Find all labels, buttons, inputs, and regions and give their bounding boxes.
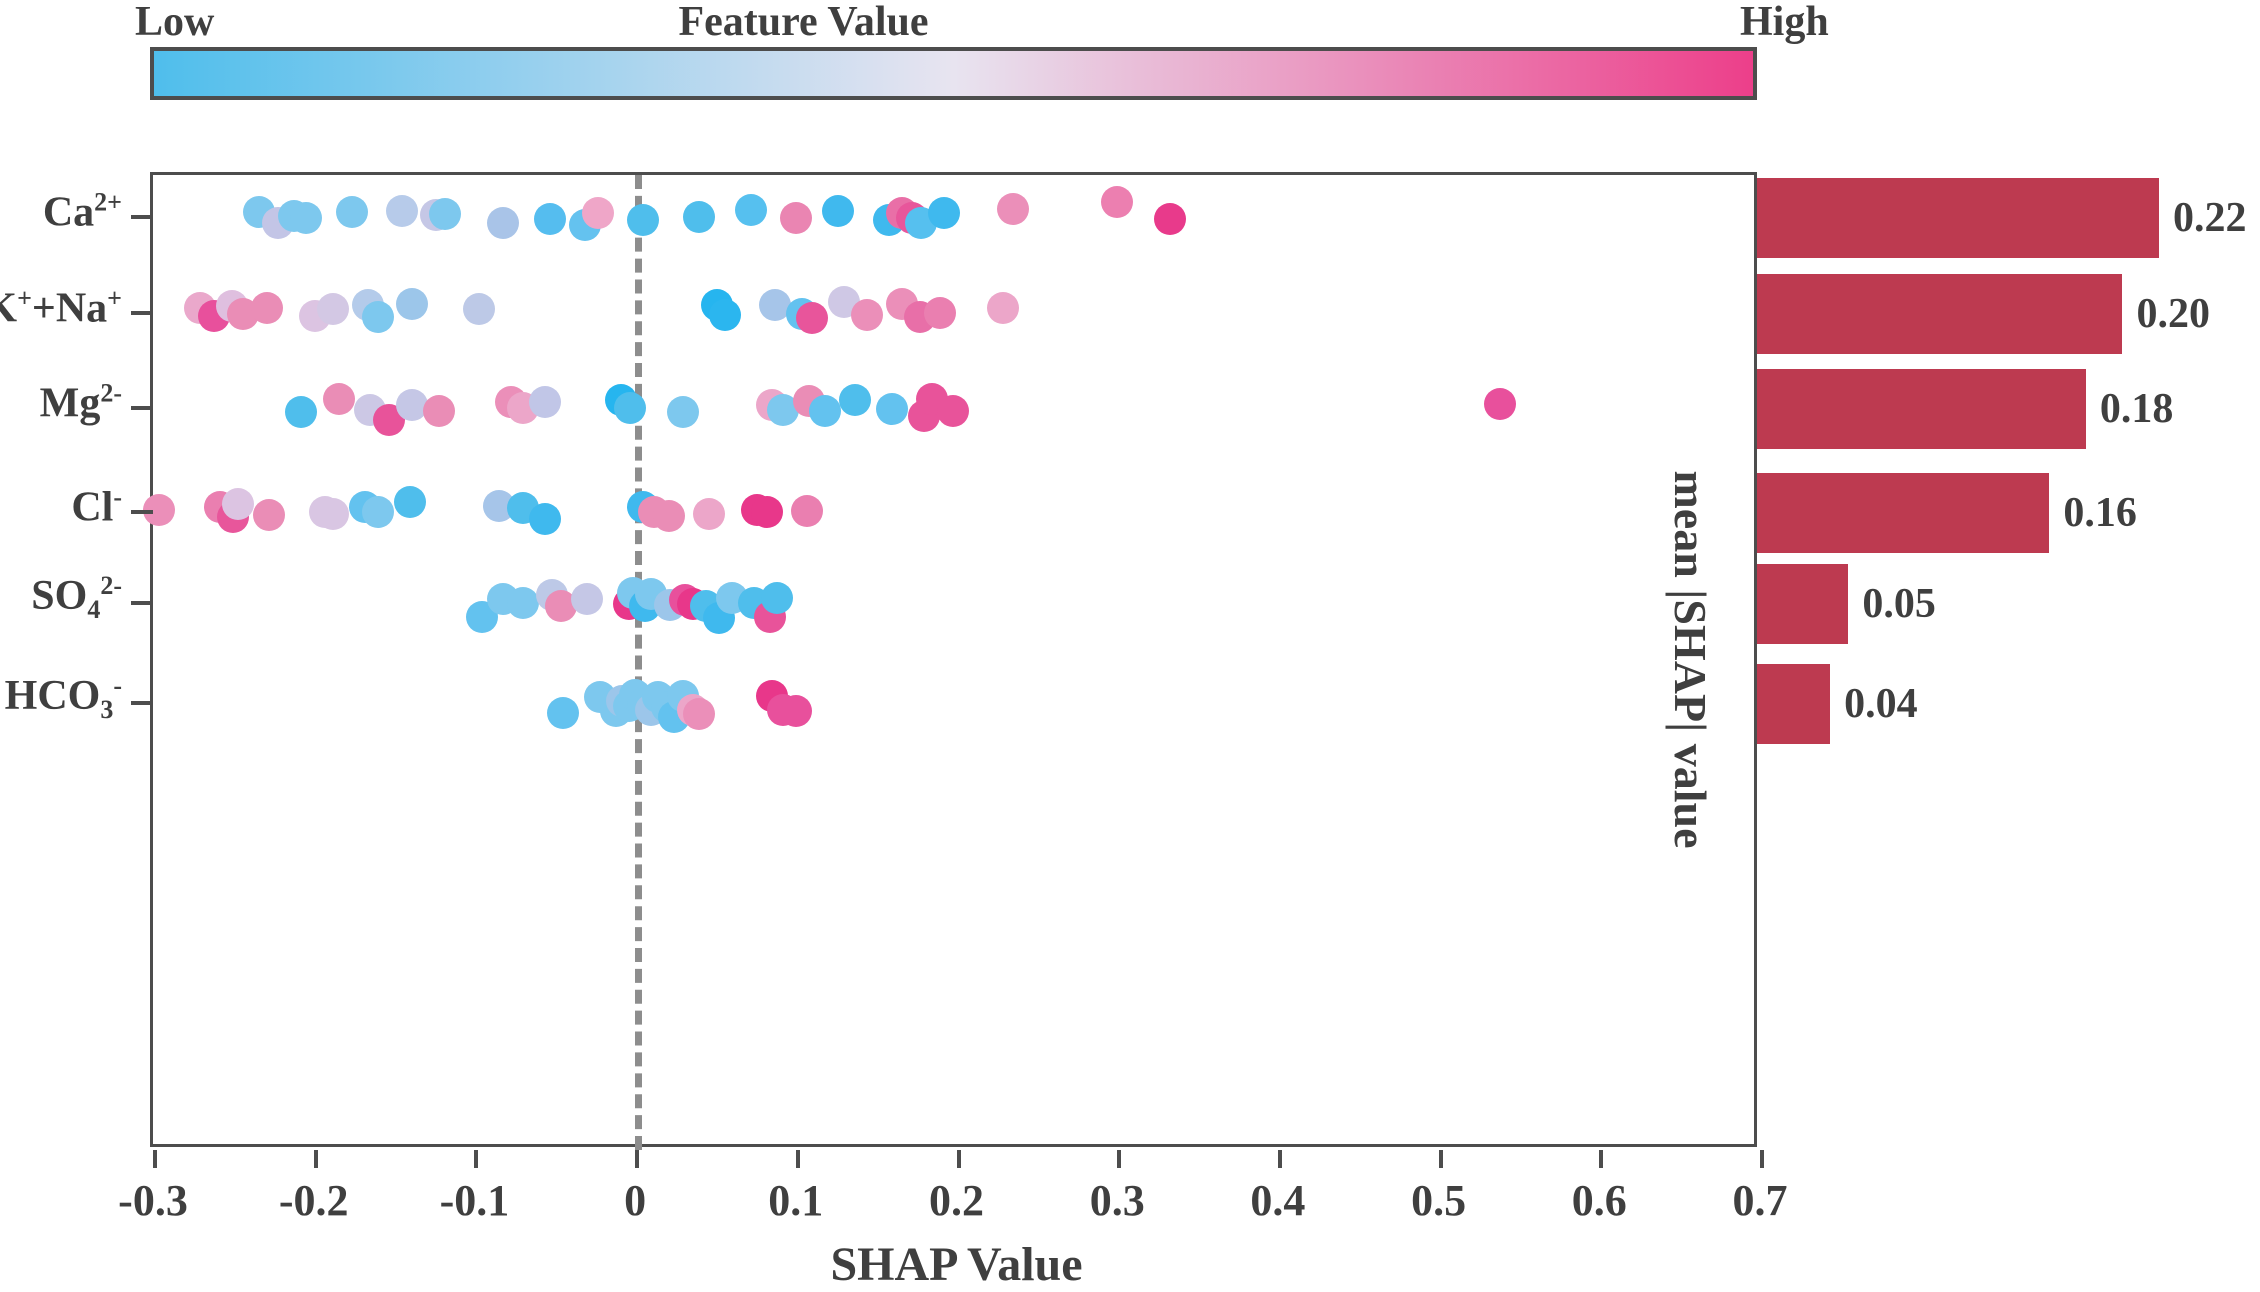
scatter-point [251,292,283,324]
x-axis-title: SHAP Value [153,1237,1760,1292]
colorbar-high-label: High [1740,0,1829,46]
scatter-point [735,194,767,226]
scatter-point [683,201,715,233]
scatter-point [987,292,1019,324]
scatter-point [463,293,495,325]
y-tick [131,311,153,315]
scatter-point [653,500,685,532]
scatter-point [222,488,254,520]
y-tick [131,701,153,705]
bar-value-label: 0.22 [2173,194,2247,242]
y-axis-label-SO42-: SO42- [31,571,122,625]
y-tick [131,601,153,605]
scatter-point [1154,203,1186,235]
scatter-point [627,204,659,236]
scatter-point [937,395,969,427]
y-axis-label-K++Na+: K++Na+ [0,284,122,333]
x-tick-label: 0.1 [768,1175,823,1226]
y-tick [131,406,153,410]
feature-value-colorbar [150,47,1757,100]
x-tick-label: -0.1 [440,1175,510,1226]
x-tick-label: 0 [624,1175,646,1226]
x-tick [1117,1150,1121,1168]
scatter-point [928,197,960,229]
scatter-point [547,697,579,729]
x-tick-label: -0.2 [279,1175,349,1226]
y-axis-label-Mg2-: Mg2- [40,379,122,428]
scatter-point [323,383,355,415]
scatter-point [290,202,322,234]
scatter-point [851,299,883,331]
scatter-point [796,302,828,334]
x-tick [957,1150,961,1168]
scatter-point [667,396,699,428]
x-tick [474,1150,478,1168]
scatter-point [507,587,539,619]
scatter-point [791,495,823,527]
y-axis-label-Ca2+: Ca2+ [43,188,122,237]
scatter-point [394,486,426,518]
x-tick [1599,1150,1603,1168]
scatter-point [285,396,317,428]
scatter-point [571,583,603,615]
scatter-point [336,196,368,228]
x-tick [314,1150,318,1168]
scatter-point [822,195,854,227]
scatter-point [924,297,956,329]
scatter-point [582,197,614,229]
x-tick-label: 0.2 [929,1175,984,1226]
x-tick-label: 0.5 [1411,1175,1466,1226]
x-tick [1439,1150,1443,1168]
scatter-point [386,195,418,227]
y-axis-label-HCO3-: HCO3- [5,671,122,725]
scatter-point [253,499,285,531]
scatter-point [780,202,812,234]
scatter-point [534,203,566,235]
scatter-point [529,386,561,418]
scatter-point [362,301,394,333]
x-tick [796,1150,800,1168]
shap-summary-figure: Low Feature Value High -0.3-0.2-0.100.10… [0,0,2260,1290]
x-tick-label: 0.7 [1733,1175,1788,1226]
scatter-point [317,293,349,325]
scatter-point [876,393,908,425]
y-tick [131,510,153,514]
scatter-point [423,395,455,427]
scatter-point [487,207,519,239]
x-tick-label: -0.3 [118,1175,188,1226]
x-tick-label: 0.4 [1250,1175,1305,1226]
x-tick [635,1150,639,1168]
bar-axis-title: mean |SHAP| value [1203,172,2178,1147]
x-tick-label: 0.6 [1572,1175,1627,1226]
x-tick-label: 0.3 [1090,1175,1145,1226]
scatter-point [761,582,793,614]
zero-reference-line [635,175,642,1150]
scatter-point [1101,186,1133,218]
x-tick [1760,1150,1764,1168]
scatter-point [693,498,725,530]
x-tick [153,1150,157,1168]
scatter-point [709,299,741,331]
scatter-point [317,498,349,530]
scatter-point [780,695,812,727]
colorbar-gradient [150,47,1757,100]
y-tick [131,215,153,219]
scatter-point [429,198,461,230]
scatter-point [839,384,871,416]
scatter-point [809,395,841,427]
y-axis-label-Cl-: Cl- [71,483,122,532]
scatter-point [362,496,394,528]
scatter-point [751,496,783,528]
scatter-point [396,288,428,320]
scatter-point [997,193,1029,225]
colorbar-title: Feature Value [0,0,1607,46]
x-tick [1278,1150,1282,1168]
scatter-point [529,503,561,535]
scatter-point [683,698,715,730]
